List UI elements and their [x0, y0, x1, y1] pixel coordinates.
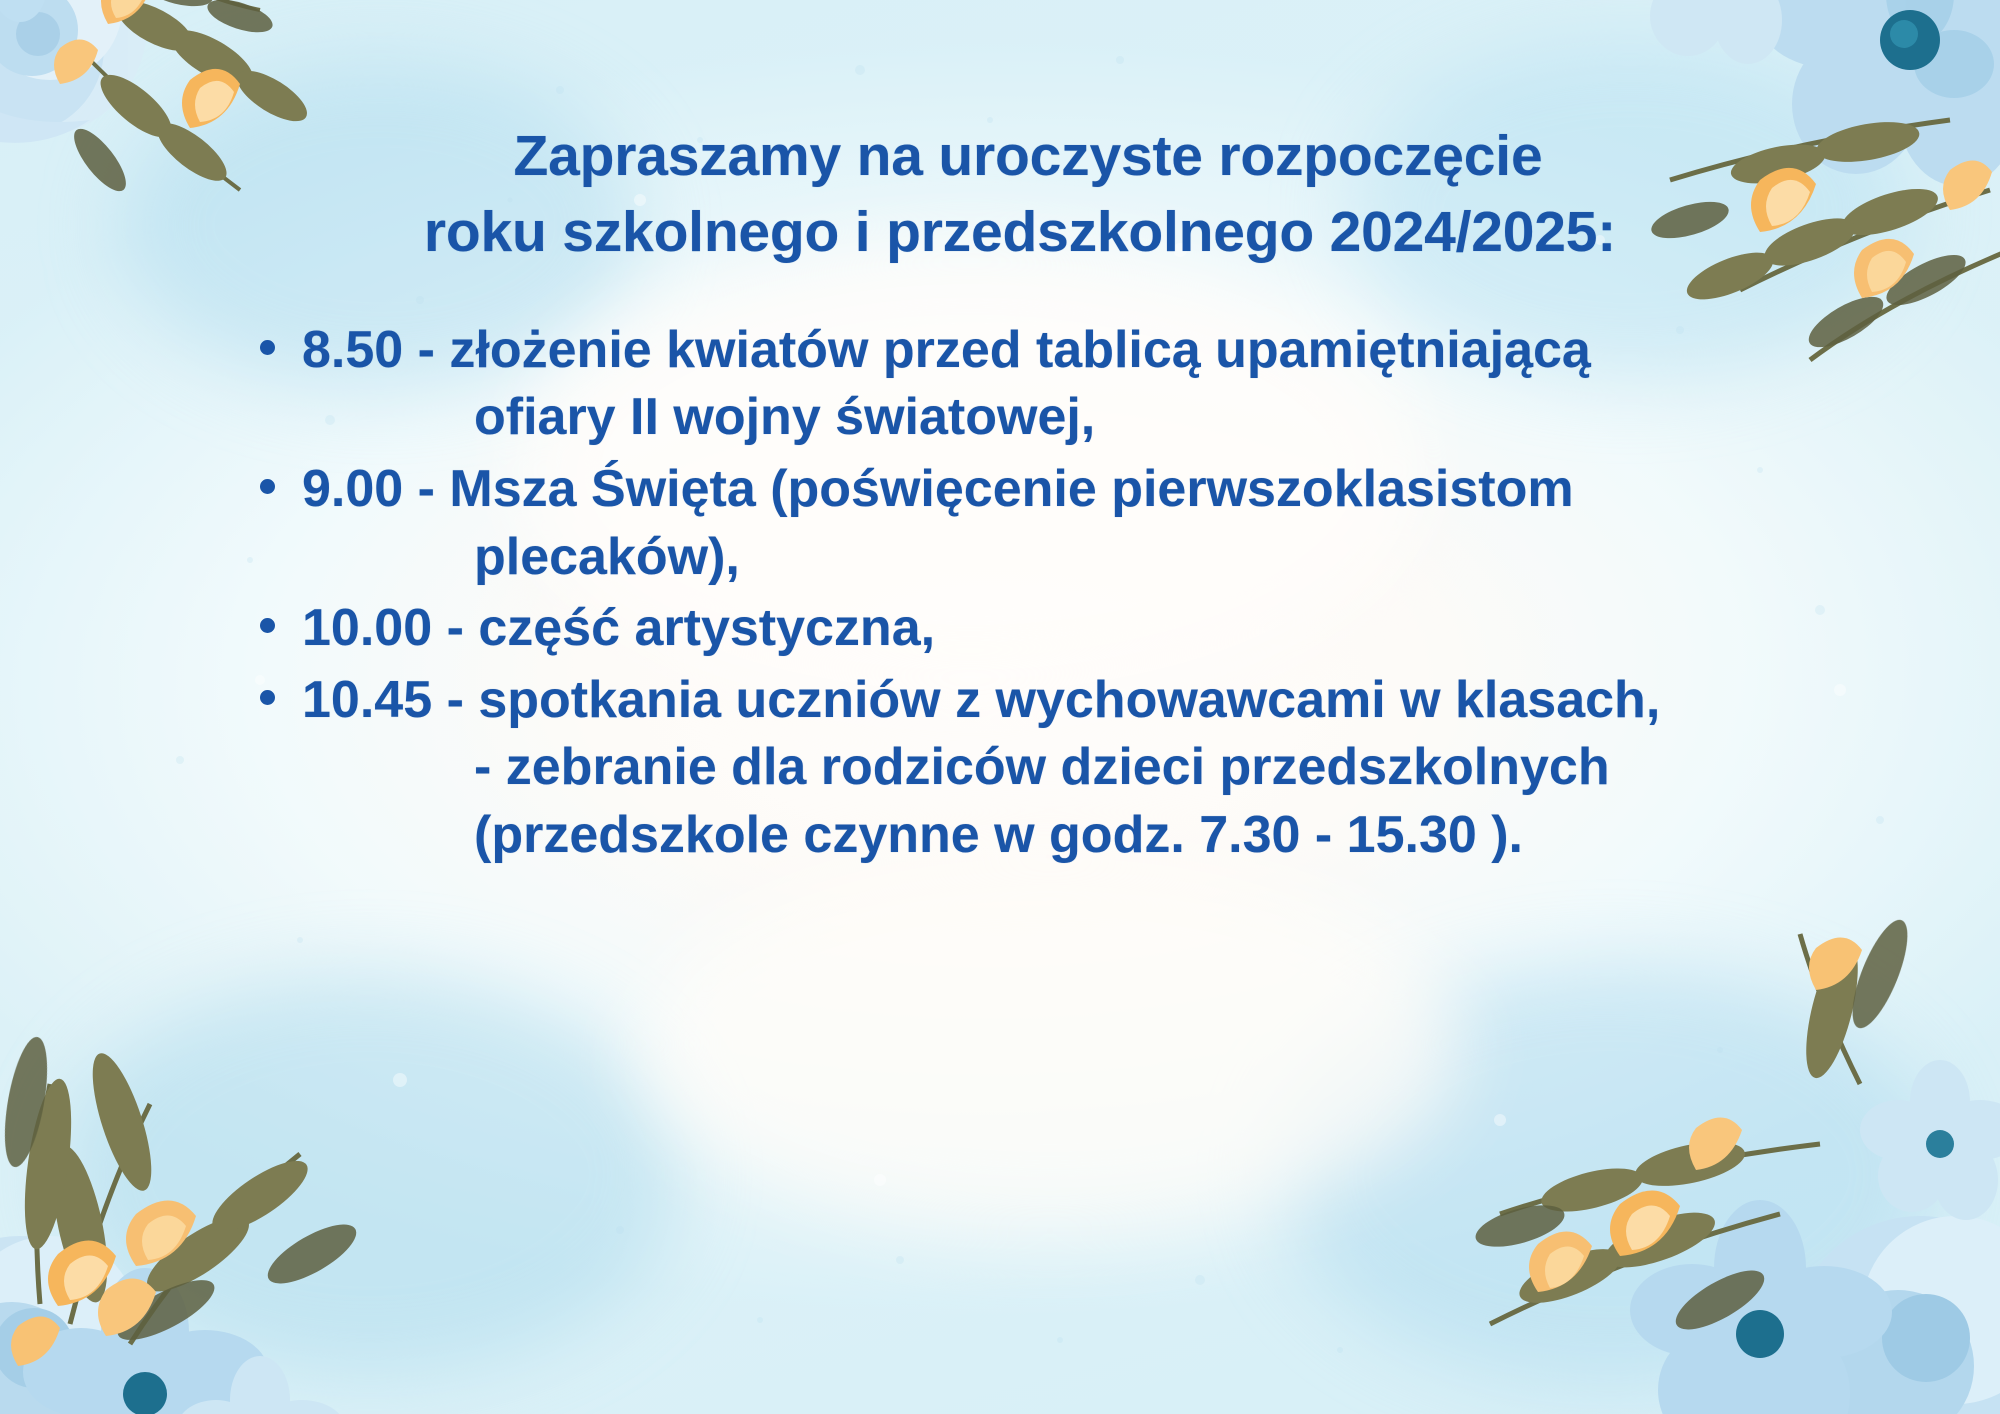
- title-line-2: roku szkolnego i przedszkolnego 2024/202…: [220, 194, 1780, 270]
- bullet-icon: [260, 690, 275, 705]
- floral-corner-bottom-left: [0, 924, 650, 1414]
- schedule-item-line-1: 10.45 - spotkania uczniów z wychowawcami…: [302, 671, 1660, 729]
- watercolor-wash: [60, 974, 680, 1374]
- schedule-item-line-3: (przedszkole czynne w godz. 7.30 - 15.30…: [302, 802, 1920, 870]
- schedule-item-line-2: ofiary II wojny światowej,: [302, 384, 1920, 452]
- schedule-item-line-1: 8.50 - złożenie kwiatów przed tablicą up…: [302, 321, 1591, 379]
- schedule-item-line-1: 9.00 - Msza Święta (poświęcenie pierwszo…: [302, 460, 1574, 518]
- petal-orange: [1529, 1231, 1592, 1292]
- schedule-item-line-1: 10.00 - część artystyczna,: [302, 599, 935, 657]
- bullet-icon: [260, 618, 275, 633]
- petal-orange: [101, 0, 152, 24]
- list-item: 10.00 - część artystyczna,: [80, 595, 1920, 663]
- petal-orange: [1809, 937, 1862, 990]
- petal-orange: [54, 39, 98, 84]
- title-line-1: Zapraszamy na uroczyste rozpoczęcie: [220, 118, 1780, 194]
- watercolor-wash: [1280, 964, 1940, 1384]
- petal-orange: [1689, 1117, 1742, 1170]
- bullet-icon: [260, 340, 275, 355]
- list-item: 9.00 - Msza Święta (poświęcenie pierwszo…: [80, 456, 1920, 591]
- petal-orange: [1610, 1190, 1680, 1256]
- petal-orange: [11, 1316, 60, 1366]
- poster-canvas: Zapraszamy na uroczyste rozpoczęcie roku…: [0, 0, 2000, 1414]
- floral-corner-bottom-right: [1220, 914, 2000, 1414]
- petal-orange: [98, 1278, 156, 1336]
- list-item: 10.45 - spotkania uczniów z wychowawcami…: [80, 667, 1920, 870]
- schedule-item-line-2: plecaków),: [302, 524, 1920, 592]
- schedule-list: 8.50 - złożenie kwiatów przed tablicą up…: [80, 317, 1920, 870]
- watercolor-wash: [640, 854, 1460, 1234]
- petal-orange: [126, 1200, 196, 1266]
- list-item: 8.50 - złożenie kwiatów przed tablicą up…: [80, 317, 1920, 452]
- page-title: Zapraszamy na uroczyste rozpoczęcie roku…: [220, 118, 1780, 271]
- announcement-content: Zapraszamy na uroczyste rozpoczęcie roku…: [0, 118, 2000, 874]
- petal-orange: [48, 1240, 116, 1306]
- bullet-icon: [260, 479, 275, 494]
- schedule-item-line-2: - zebranie dla rodziców dzieci przedszko…: [302, 734, 1920, 802]
